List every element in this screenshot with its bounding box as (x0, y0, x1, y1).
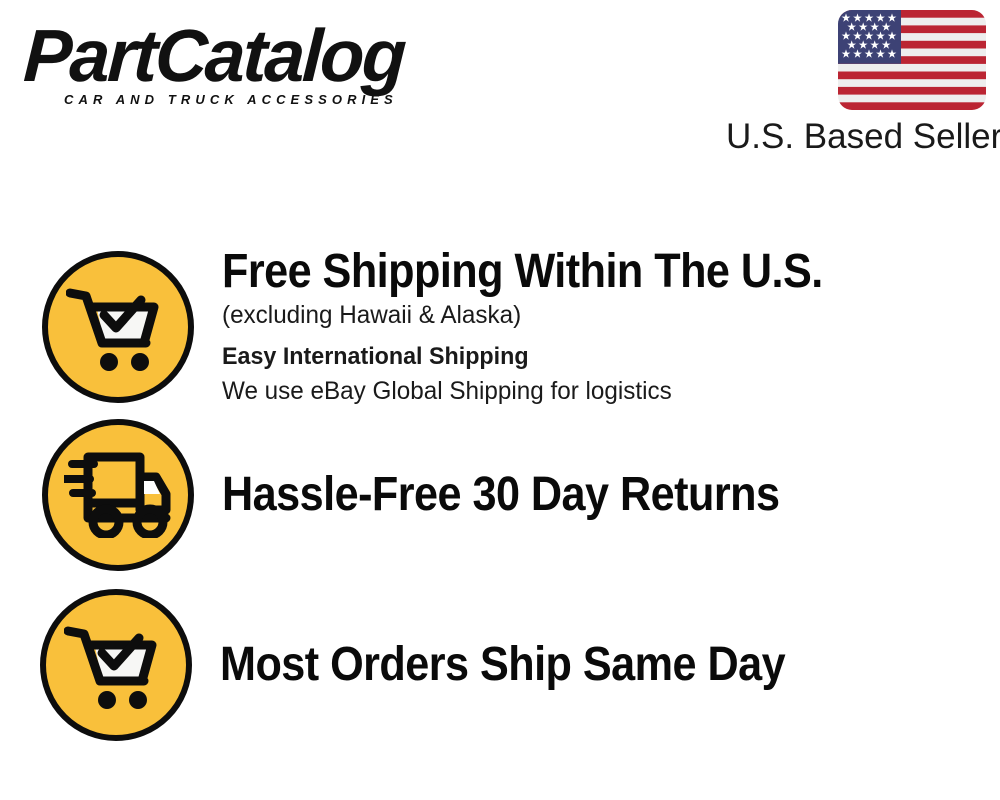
feature-heading: Most Orders Ship Same Day (220, 637, 785, 693)
delivery-truck-icon-badge (42, 419, 194, 571)
feature-text-free-shipping: Free Shipping Within The U.S. (excluding… (222, 246, 890, 408)
feature-row-returns: Hassle-Free 30 Day Returns (42, 419, 841, 571)
shopping-cart-check-icon-badge (40, 589, 192, 741)
feature-subline-exclusions: (excluding Hawaii & Alaska) (222, 298, 869, 332)
feature-row-free-shipping: Free Shipping Within The U.S. (excluding… (42, 246, 890, 408)
us-based-seller-label: U.S. Based Seller (726, 117, 988, 157)
feature-text-returns: Hassle-Free 30 Day Returns (222, 467, 841, 523)
shopping-cart-check-icon (66, 281, 170, 373)
feature-subline-international: Easy International Shipping (222, 340, 869, 374)
feature-row-same-day-ship: Most Orders Ship Same Day (40, 589, 848, 741)
delivery-truck-icon (64, 452, 172, 538)
us-flag-icon (838, 10, 986, 110)
feature-text-same-day-ship: Most Orders Ship Same Day (220, 637, 848, 693)
feature-heading: Free Shipping Within The U.S. (222, 246, 823, 298)
feature-subline-logistics: We use eBay Global Shipping for logistic… (222, 374, 869, 408)
shopping-cart-check-icon-badge (42, 251, 194, 403)
shopping-cart-check-icon (64, 619, 168, 711)
partcatalog-logo: PartCatalog CAR AND TRUCK ACCESSORIES (22, 18, 492, 118)
feature-heading: Hassle-Free 30 Day Returns (222, 467, 779, 523)
logo-wordmark: PartCatalog (22, 18, 487, 94)
shipping-info-banner: PartCatalog CAR AND TRUCK ACCESSORIES (0, 0, 1000, 800)
